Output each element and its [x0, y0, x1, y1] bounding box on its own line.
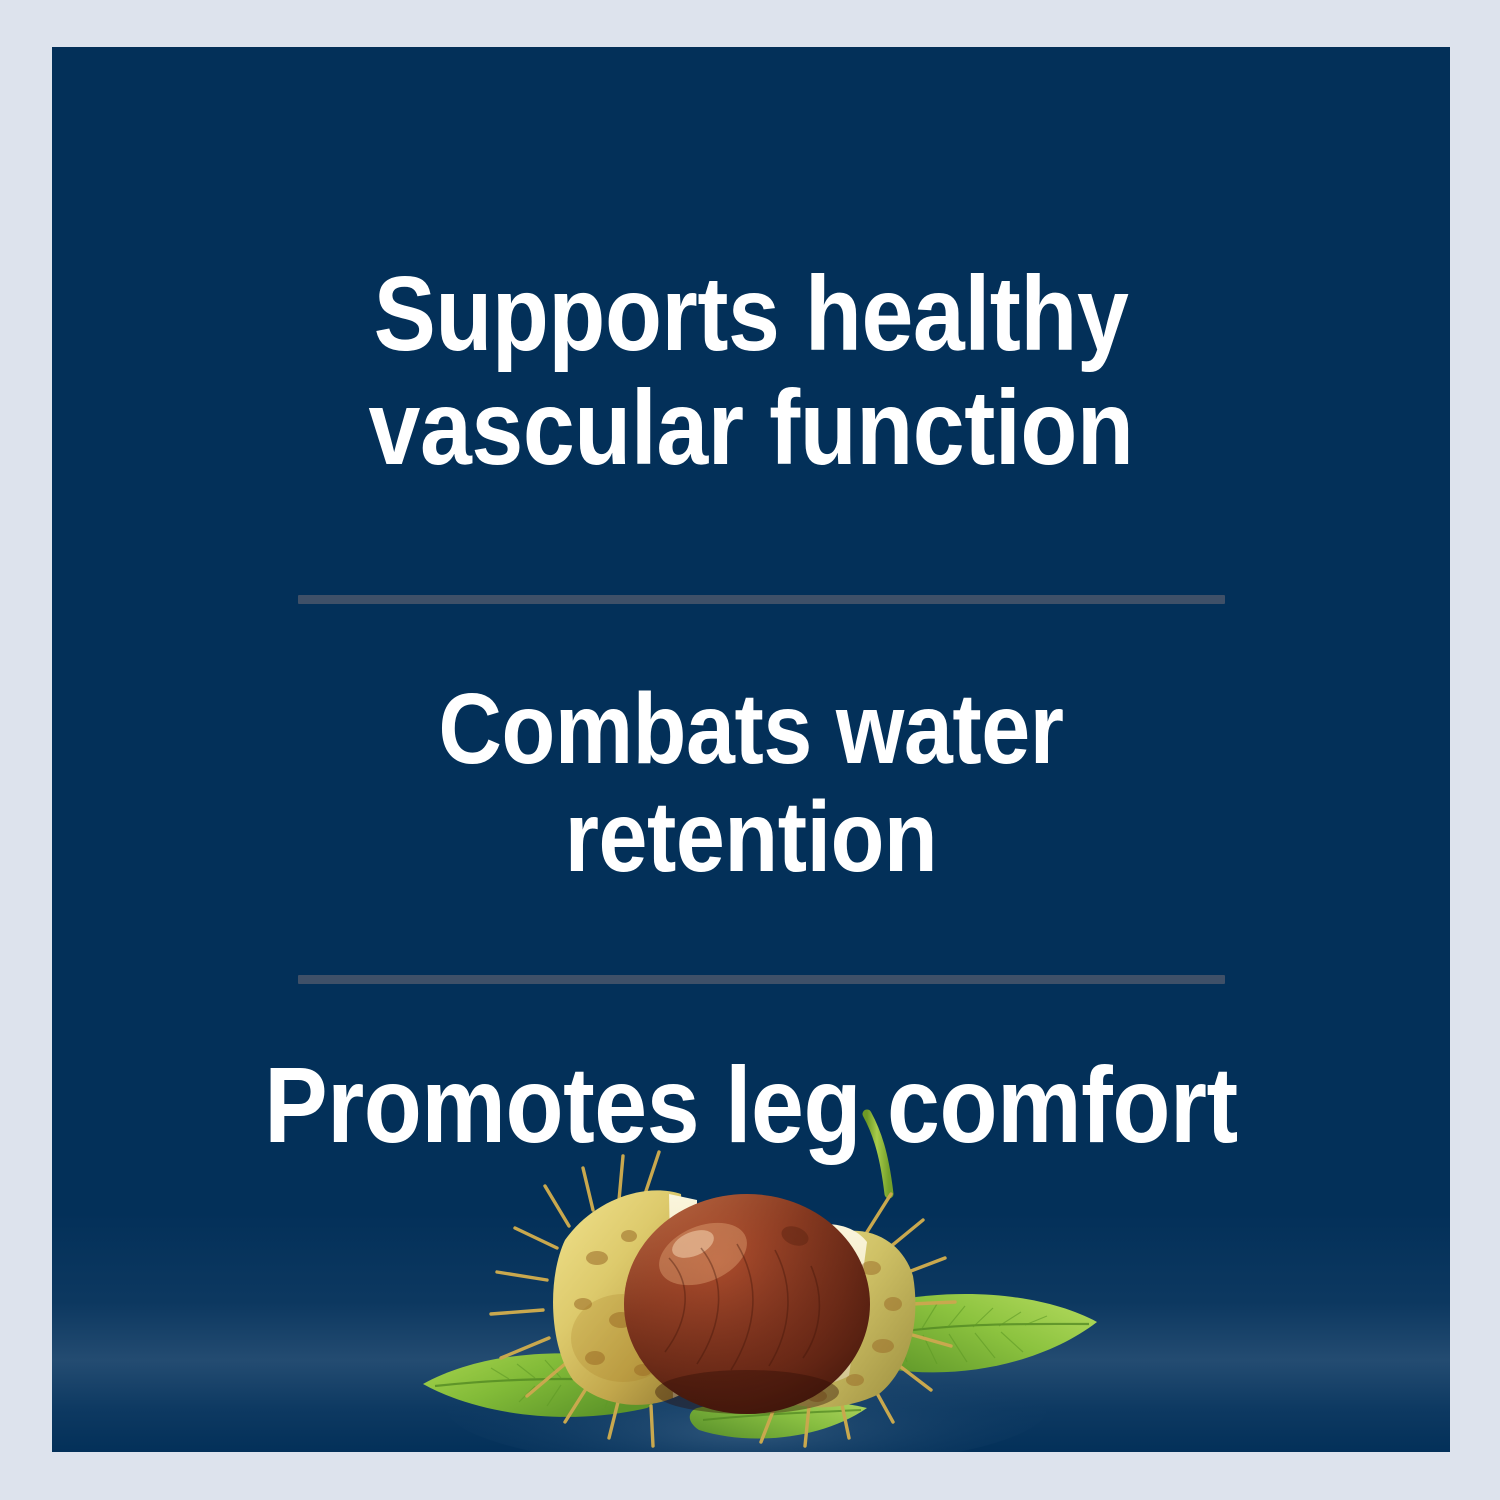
benefit-item-vascular: Supports healthy vascular function [136, 257, 1366, 486]
benefit-item-water-retention: Combats water retention [136, 675, 1366, 891]
chestnut-husk-left [491, 1152, 697, 1446]
panel-backdrop-haze [52, 1212, 1450, 1452]
benefit-divider-1 [298, 595, 1225, 604]
product-benefits-graphic: Supports healthy vascular function Comba… [0, 0, 1500, 1500]
benefits-panel: Supports healthy vascular function Comba… [52, 47, 1450, 1452]
chestnut-leaves [423, 1294, 1097, 1439]
chestnut-husk-right [761, 1194, 955, 1446]
chestnut-nut [624, 1194, 870, 1414]
benefit-divider-2 [298, 975, 1225, 984]
benefit-item-leg-comfort: Promotes leg comfort [136, 1047, 1366, 1164]
